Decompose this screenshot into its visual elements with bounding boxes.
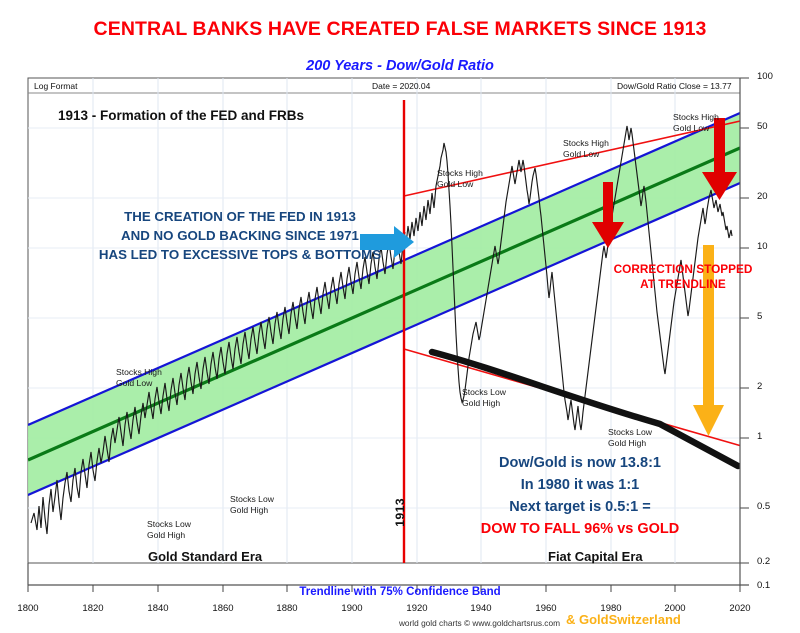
- marker-stocks-low-1: Stocks Low Gold High: [147, 519, 191, 540]
- marker-line-2: Gold Low: [437, 179, 483, 190]
- y-axis-ticks: [740, 78, 749, 563]
- x-tick-1860: 1860: [203, 603, 243, 614]
- x-tick-1900: 1900: [332, 603, 372, 614]
- y-tick-50: 50: [757, 121, 768, 132]
- marker-stocks-high-4: Stocks High Gold Low: [673, 112, 719, 133]
- marker-line-2: Gold Low: [563, 149, 609, 160]
- marker-stocks-low-2: Stocks Low Gold High: [230, 494, 274, 515]
- creation-line-3: HAS LED TO EXCESSIVE TOPS & BOTTOMS: [30, 245, 450, 264]
- creation-line-2: AND NO GOLD BACKING SINCE 1971: [30, 226, 450, 245]
- forecast-line-3: Next target is 0.5:1 =: [425, 496, 735, 518]
- marker-line-1: Stocks Low: [147, 519, 191, 530]
- marker-line-2: Gold Low: [673, 123, 719, 134]
- correction-line-1: CORRECTION STOPPED: [598, 262, 768, 277]
- x-tick-1880: 1880: [267, 603, 307, 614]
- fed-formation-label: 1913 - Formation of the FED and FRBs: [58, 108, 304, 123]
- y-tick-5: 5: [757, 311, 762, 322]
- x-tick-1960: 1960: [526, 603, 566, 614]
- chart-page: CENTRAL BANKS HAVE CREATED FALSE MARKETS…: [0, 0, 800, 633]
- partner-credit: & GoldSwitzerland: [566, 612, 681, 627]
- y-tick-0.1: 0.1: [757, 580, 770, 591]
- marker-stocks-high-2: Stocks High Gold Low: [437, 168, 483, 189]
- marker-line-2: Gold High: [462, 398, 506, 409]
- correction-line-2: AT TRENDLINE: [598, 277, 768, 292]
- x-tick-1800: 1800: [8, 603, 48, 614]
- event-label-1913: 1913: [393, 498, 407, 527]
- y-tick-20: 20: [757, 191, 768, 202]
- x-tick-1840: 1840: [138, 603, 178, 614]
- forecast-line-4: DOW TO FALL 96% vs GOLD: [425, 518, 735, 540]
- creation-line-1: THE CREATION OF THE FED IN 1913: [30, 207, 450, 226]
- era-label-gold-standard: Gold Standard Era: [148, 549, 262, 564]
- x-tick-2020: 2020: [720, 603, 760, 614]
- correction-stopped-block: CORRECTION STOPPED AT TRENDLINE: [598, 262, 768, 292]
- marker-line-2: Gold High: [230, 505, 274, 516]
- marker-line-1: Stocks High: [437, 168, 483, 179]
- y-tick-0.2: 0.2: [757, 556, 770, 567]
- source-credit: world gold charts © www.goldchartsrus.co…: [300, 618, 560, 628]
- date-note: Date = 2020.04: [372, 81, 430, 91]
- close-note: Dow/Gold Ratio Close = 13.77: [617, 81, 732, 91]
- marker-line-1: Stocks Low: [462, 387, 506, 398]
- trendline-note: Trendline with 75% Confidence Band: [0, 586, 800, 598]
- x-tick-1940: 1940: [461, 603, 501, 614]
- x-tick-1820: 1820: [73, 603, 113, 614]
- marker-line-2: Gold Low: [116, 378, 162, 389]
- forecast-block: Dow/Gold is now 13.8:1 In 1980 it was 1:…: [425, 452, 735, 540]
- marker-line-2: Gold High: [147, 530, 191, 541]
- y-tick-0.5: 0.5: [757, 501, 770, 512]
- marker-stocks-low-3: Stocks Low Gold High: [462, 387, 506, 408]
- y-tick-100: 100: [757, 71, 773, 82]
- marker-stocks-low-4: Stocks Low Gold High: [608, 427, 652, 448]
- forecast-line-2: In 1980 it was 1:1: [425, 474, 735, 496]
- creation-of-fed-block: THE CREATION OF THE FED IN 1913 AND NO G…: [30, 207, 450, 264]
- marker-line-1: Stocks Low: [608, 427, 652, 438]
- marker-stocks-high-3: Stocks High Gold Low: [563, 138, 609, 159]
- x-tick-1920: 1920: [397, 603, 437, 614]
- y-tick-10: 10: [757, 241, 768, 252]
- marker-line-1: Stocks High: [116, 367, 162, 378]
- y-tick-2: 2: [757, 381, 762, 392]
- log-format-note: Log Format: [34, 81, 77, 91]
- y-tick-1: 1: [757, 431, 762, 442]
- era-label-fiat-capital: Fiat Capital Era: [548, 549, 643, 564]
- marker-line-1: Stocks High: [563, 138, 609, 149]
- marker-line-2: Gold High: [608, 438, 652, 449]
- forecast-line-1: Dow/Gold is now 13.8:1: [425, 452, 735, 474]
- marker-stocks-high-1: Stocks High Gold Low: [116, 367, 162, 388]
- marker-line-1: Stocks Low: [230, 494, 274, 505]
- marker-line-1: Stocks High: [673, 112, 719, 123]
